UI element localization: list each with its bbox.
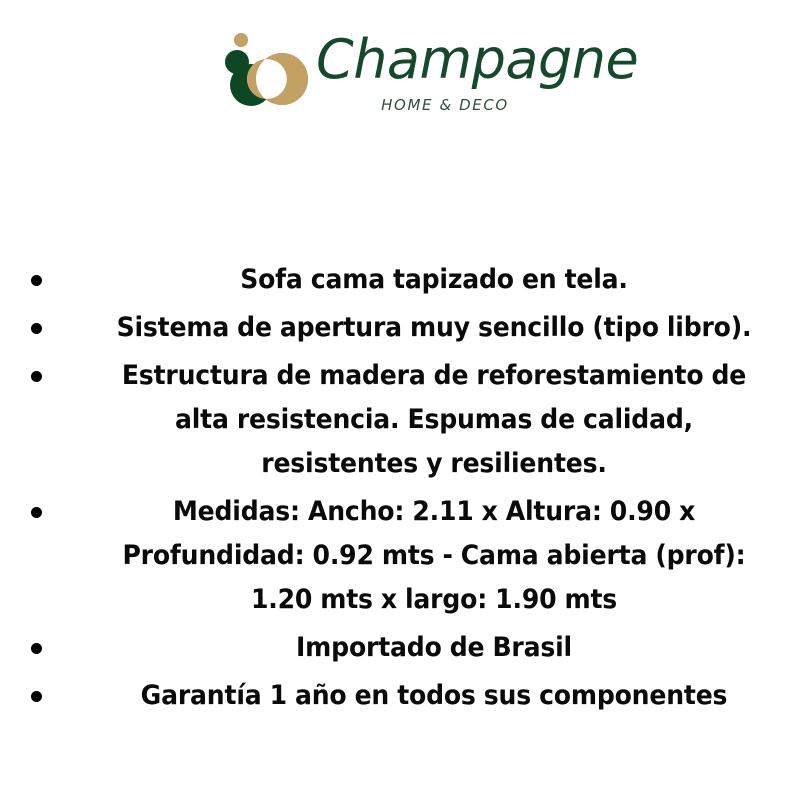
brand-header: Champagne HOME & DECO (0, 22, 800, 142)
brand-tagline: HOME & DECO (316, 96, 580, 114)
spec-text: Medidas: Ancho: 2.11 x Altura: 0.90 x Pr… (103, 490, 765, 622)
spec-text: Sistema de apertura muy sencillo (tipo l… (103, 306, 765, 350)
brand-logo-lockup: Champagne HOME & DECO (220, 22, 580, 137)
list-item: Medidas: Ancho: 2.11 x Altura: 0.90 x Pr… (0, 490, 800, 622)
bullet-icon (31, 323, 42, 334)
brand-wordmark: Champagne HOME & DECO (316, 30, 580, 134)
bullet-icon (31, 643, 42, 654)
bullet-icon (31, 275, 42, 286)
bullet-icon (31, 507, 42, 518)
spec-text: Sofa cama tapizado en tela. (103, 258, 765, 302)
brand-name: Champagne (316, 30, 580, 90)
spec-text: Importado de Brasil (103, 626, 765, 670)
product-specs-list: Sofa cama tapizado en tela. Sistema de a… (0, 258, 800, 722)
list-item: Estructura de madera de reforestamiento … (0, 354, 800, 486)
list-item: Sofa cama tapizado en tela. (0, 258, 800, 302)
list-item: Sistema de apertura muy sencillo (tipo l… (0, 306, 800, 350)
list-item: Importado de Brasil (0, 626, 800, 670)
spec-text: Garantía 1 año en todos sus componentes (103, 674, 765, 718)
champagne-circles-logo-icon (220, 22, 316, 118)
spec-text: Estructura de madera de reforestamiento … (103, 354, 765, 486)
bullet-icon (31, 691, 42, 702)
list-item: Garantía 1 año en todos sus componentes (0, 674, 800, 718)
product-spec-page: Champagne HOME & DECO Sofa cama tapizado… (0, 0, 800, 800)
bullet-icon (31, 371, 42, 382)
